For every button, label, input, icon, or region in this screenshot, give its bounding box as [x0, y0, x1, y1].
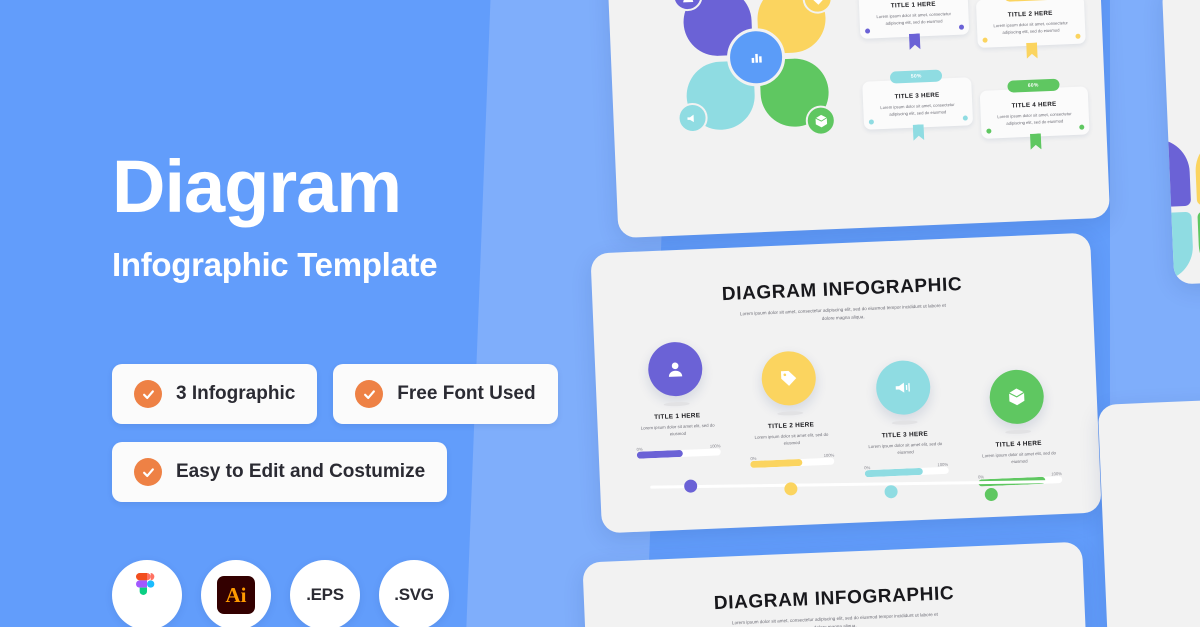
check-circle-icon: [355, 380, 383, 408]
preview-card-right-bottom[interactable]: TITLE 1 HERE Lorem ipsum dolor sit amet …: [1098, 395, 1200, 627]
percent-badge: 60%: [1007, 79, 1059, 93]
check-circle-icon: [134, 458, 162, 486]
circle-title: TITLE 4 HERE: [977, 439, 1061, 450]
eps-format-icon: .EPS: [306, 585, 344, 605]
timeline-dot[interactable]: [985, 488, 999, 502]
feature-badge-font[interactable]: Free Font Used: [333, 364, 557, 424]
figma-icon: [132, 573, 162, 617]
circle-badge: [875, 360, 931, 416]
circle-badge: [647, 341, 703, 397]
feature-badge-label: 3 Infographic: [176, 383, 295, 405]
feature-badge-label: Easy to Edit and Costumize: [176, 461, 425, 483]
card-header: DIAGRAM INFOGRAPHIC Lorem ipsum dolor si…: [590, 233, 1093, 332]
user-icon: [665, 359, 686, 380]
pie-segment-purple: [1162, 138, 1191, 209]
pie-segment-cyan: [1162, 212, 1194, 283]
preview-card-right-top[interactable]: [1162, 0, 1200, 284]
package-icon: [1006, 386, 1027, 407]
percent-badge: 40%: [1003, 0, 1055, 2]
pie-icon-megaphone: [677, 102, 708, 133]
feature-badge-infographic[interactable]: 3 Infographic: [112, 364, 317, 424]
circle-text: Lorem ipsum dolor sit amet elit, sed do …: [863, 440, 948, 458]
page-title: Diagram: [112, 150, 582, 224]
ribbon-item[interactable]: 40% TITLE 2 HERE Lorem ipsum dolor sit a…: [975, 0, 1086, 48]
feature-badge-edit[interactable]: Easy to Edit and Costumize: [112, 442, 447, 502]
preview-card-bottom[interactable]: DIAGRAM INFOGRAPHIC Lorem ipsum dolor si…: [582, 542, 1093, 627]
circle-shadow: [1005, 429, 1031, 434]
circle-shadow: [891, 420, 917, 425]
ribbon-tail: [1026, 42, 1038, 58]
preview-card-pie[interactable]: DIAGRAM INFOGRAPHIC Lorem ipsum dolor si…: [606, 0, 1110, 238]
ribbon-item[interactable]: 35% TITLE 1 HERE Lorem ipsum dolor sit a…: [858, 0, 969, 53]
ribbon-title: TITLE 2 HERE: [985, 9, 1076, 20]
format-badge-illustrator[interactable]: Ai: [201, 560, 271, 627]
hero-section: Diagram Infographic Template: [112, 150, 582, 284]
user-icon: [680, 0, 696, 4]
tag-icon: [810, 0, 826, 6]
format-badge-svg[interactable]: .SVG: [379, 560, 449, 627]
package-icon: [813, 113, 829, 129]
circle-shadow: [664, 402, 690, 407]
circle-title: TITLE 3 HERE: [863, 430, 947, 441]
timeline-dot[interactable]: [884, 485, 898, 499]
circle-badge: [989, 369, 1045, 425]
svg-format-icon: .SVG: [394, 585, 433, 605]
pie-icon-package: [805, 105, 836, 136]
check-circle-icon: [134, 380, 162, 408]
bar-chart-icon: [748, 49, 764, 65]
ribbon-title: TITLE 4 HERE: [989, 100, 1080, 111]
ribbon-card-group: 35% TITLE 1 HERE Lorem ipsum dolor sit a…: [858, 0, 1090, 144]
preview-cards-stack: DIAGRAM INFOGRAPHIC Lorem ipsum dolor si…: [0, 0, 1200, 627]
circle-text: Lorem ipsum dolor sit amet elit, sed do …: [749, 431, 834, 449]
page-subtitle: Infographic Template: [112, 246, 582, 284]
feature-badge-group: 3 Infographic Free Font Used Easy to Edi…: [112, 364, 572, 520]
circle-shadow: [777, 411, 803, 416]
pie-diagram: [678, 0, 834, 135]
pie-segment-yellow: [1194, 135, 1200, 206]
tag-icon: [779, 368, 800, 389]
ribbon-title: TITLE 3 HERE: [872, 91, 963, 102]
ribbon-tail: [1030, 133, 1042, 149]
megaphone-icon: [892, 377, 913, 398]
circle-title: TITLE 1 HERE: [635, 411, 719, 422]
megaphone-icon: [685, 110, 701, 126]
format-icon-group: Ai .EPS .SVG: [112, 560, 449, 627]
ribbon-tail: [909, 33, 921, 49]
adobe-illustrator-icon: Ai: [217, 576, 255, 614]
ribbon-title: TITLE 1 HERE: [868, 0, 959, 11]
pie-diagram-partial: [1162, 131, 1200, 285]
timeline-dot[interactable]: [784, 482, 798, 496]
feature-badge-label: Free Font Used: [397, 383, 535, 405]
circle-badge: [761, 350, 817, 406]
ribbon-item[interactable]: 60% TITLE 4 HERE Lorem ipsum dolor sit a…: [979, 77, 1090, 138]
circle-text: Lorem ipsum dolor sit amet elit, sed do …: [636, 421, 721, 439]
ribbon-item[interactable]: 50% TITLE 3 HERE Lorem ipsum dolor sit a…: [862, 68, 973, 143]
ribbon-tail: [913, 124, 925, 140]
preview-card-circles[interactable]: DIAGRAM INFOGRAPHIC Lorem ipsum dolor si…: [590, 233, 1101, 534]
card-description: Lorem ipsum dolor sit amet, consectetur …: [735, 302, 950, 327]
circle-title: TITLE 2 HERE: [749, 421, 833, 432]
format-badge-eps[interactable]: .EPS: [290, 560, 360, 627]
timeline-dot[interactable]: [684, 479, 698, 493]
card-header: DIAGRAM INFOGRAPHIC Lorem ipsum dolor si…: [582, 542, 1085, 627]
format-badge-figma[interactable]: [112, 560, 182, 627]
percent-badge: 50%: [890, 69, 942, 83]
